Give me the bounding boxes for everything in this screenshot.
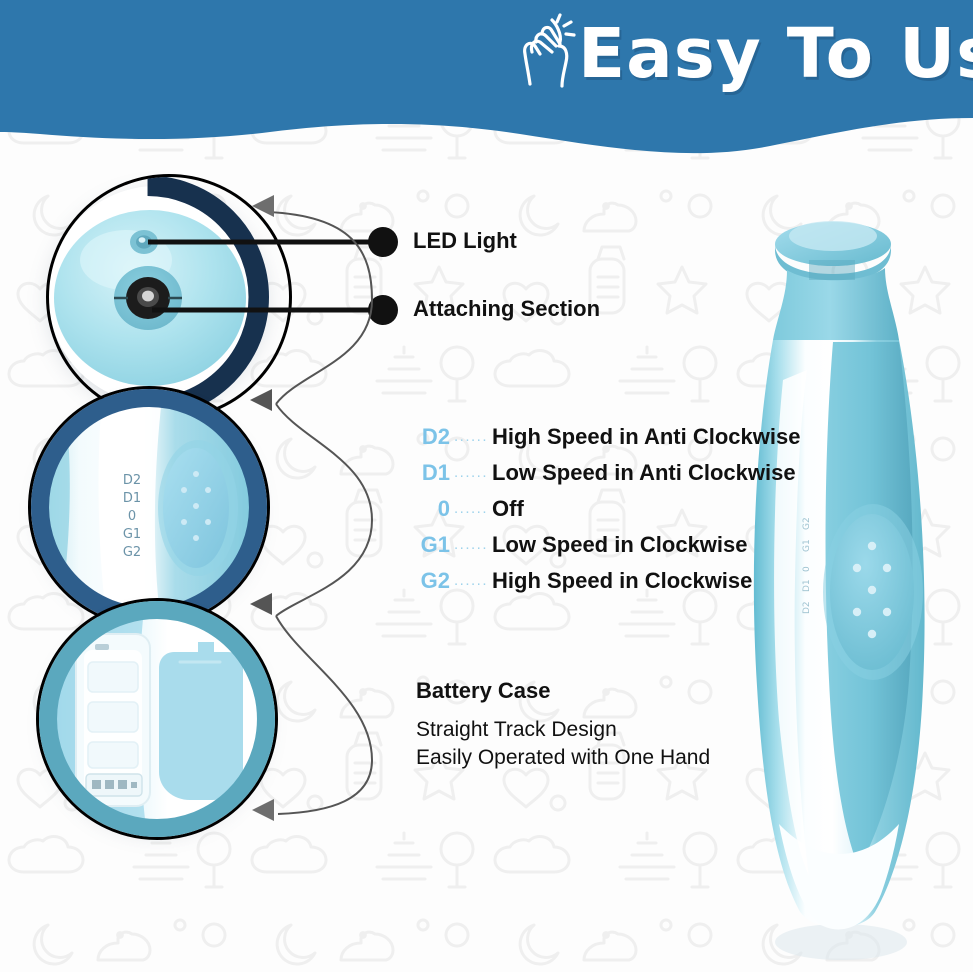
svg-text:G2: G2 — [802, 517, 812, 530]
speed-description: High Speed in Clockwise — [492, 568, 752, 594]
speed-settings-list: D2 ...... High Speed in Anti Clockwise D… — [404, 424, 800, 604]
speed-description: Off — [492, 496, 524, 522]
battery-case-line-1: Straight Track Design — [416, 716, 710, 744]
speed-code: D1 — [404, 460, 450, 486]
callout-led-light: LED Light — [413, 228, 517, 254]
ring-accent-middle — [28, 386, 270, 628]
speed-row: D1 ...... Low Speed in Anti Clockwise — [404, 460, 800, 496]
speed-row: G2 ...... High Speed in Clockwise — [404, 568, 800, 604]
page-title: Easy To Use — [578, 8, 968, 100]
speed-code: 0 — [404, 496, 450, 522]
leader-dots: ...... — [454, 536, 488, 553]
svg-text:G1: G1 — [802, 539, 812, 552]
battery-case-line-2: Easily Operated with One Hand — [416, 744, 710, 772]
ring-accent-top — [46, 174, 292, 420]
speed-description: Low Speed in Anti Clockwise — [492, 460, 796, 486]
leader-dots: ...... — [454, 572, 488, 589]
speed-description: Low Speed in Clockwise — [492, 532, 748, 558]
leader-dots: ...... — [454, 428, 488, 445]
svg-text:D1: D1 — [802, 579, 812, 592]
hand-holding-device-icon — [516, 12, 578, 92]
speed-code: D2 — [404, 424, 450, 450]
speed-description: High Speed in Anti Clockwise — [492, 424, 800, 450]
svg-text:0: 0 — [802, 566, 812, 572]
speed-code: G2 — [404, 568, 450, 594]
svg-text:D2: D2 — [802, 601, 812, 614]
battery-case-title: Battery Case — [416, 678, 710, 704]
speed-code: G1 — [404, 532, 450, 558]
leader-dots: ...... — [454, 464, 488, 481]
ring-accent-bottom — [36, 598, 278, 840]
speed-row: 0 ...... Off — [404, 496, 800, 532]
infographic-page: Easy To Use — [0, 0, 973, 972]
callout-attaching-section: Attaching Section — [413, 296, 600, 322]
speed-row: D2 ...... High Speed in Anti Clockwise — [404, 424, 800, 460]
speed-row: G1 ...... Low Speed in Clockwise — [404, 532, 800, 568]
battery-case-block: Battery Case Straight Track Design Easil… — [416, 678, 710, 772]
product-detail-photos: D2 D1 0 G1 G2 — [0, 160, 330, 860]
leader-dots: ...... — [454, 500, 488, 517]
